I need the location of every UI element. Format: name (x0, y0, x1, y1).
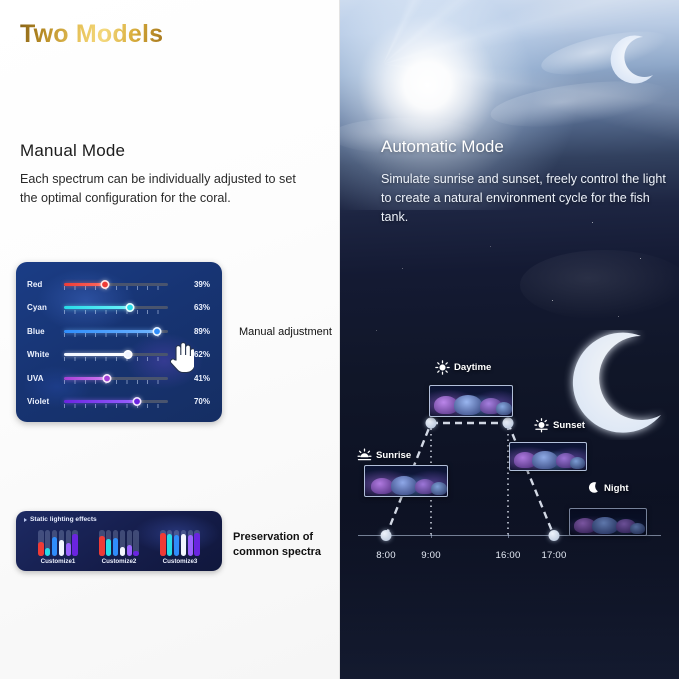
preset-customize3[interactable]: Customize3 (150, 530, 210, 565)
slider-fill (64, 330, 157, 333)
preset-bar (113, 530, 118, 556)
slider-label: Violet (16, 397, 64, 406)
preset-name: Customize1 (28, 558, 88, 565)
crescent-moon-icon (603, 34, 657, 88)
preset-bars (31, 530, 85, 556)
slider-knob[interactable] (152, 327, 161, 336)
slider-knob[interactable] (132, 397, 141, 406)
slider-row-uva[interactable]: UVA41% (16, 366, 222, 390)
slider-control[interactable] (64, 301, 168, 315)
slider-fill (64, 377, 107, 380)
stage-label-text: Sunrise (376, 450, 411, 461)
preset-bar (133, 530, 138, 556)
slider-ticks (64, 286, 168, 290)
slider-control[interactable] (64, 324, 168, 338)
slider-fill (64, 306, 130, 309)
lighting-schedule-chart: 8:009:0016:0017:00 Sunrise (340, 355, 679, 570)
preset-bar-fill (99, 536, 104, 556)
preset-bar (194, 530, 199, 556)
sunset-icon (534, 418, 549, 433)
preset-bar (66, 530, 71, 556)
slider-value: 39% (168, 280, 222, 289)
slider-row-white[interactable]: White62% (16, 343, 222, 367)
slider-value: 89% (168, 327, 222, 336)
preset-bar (127, 530, 132, 556)
slider-row-cyan[interactable]: Cyan63% (16, 296, 222, 320)
preset-bar-fill (52, 537, 57, 556)
preset-bar-fill (59, 540, 64, 556)
slider-label: Cyan (16, 303, 64, 312)
sun-icon (435, 360, 450, 375)
slider-ticks (64, 380, 168, 384)
static-effects-title: Static lighting effects (30, 516, 97, 523)
preset-customize1[interactable]: Customize1 (28, 530, 88, 565)
axis-time-label: 17:00 (541, 550, 566, 561)
preset-bar-fill (188, 535, 193, 556)
aquarium-preview-sunrise (364, 465, 448, 497)
stage-label-text: Sunset (553, 420, 585, 431)
preset-bar-fill (66, 543, 71, 556)
slider-label: Red (16, 280, 64, 289)
preset-bar-fill (167, 534, 172, 556)
automatic-mode-description: Simulate sunrise and sunset, freely cont… (381, 170, 677, 227)
preset-bar (99, 530, 104, 556)
spectrum-slider-card: Red39%Cyan63%Blue89%White62%UVA41%Violet… (16, 262, 222, 422)
slider-row-violet[interactable]: Violet70% (16, 390, 222, 414)
preset-bar-fill (120, 547, 125, 556)
moon-icon (586, 481, 600, 495)
preset-bar-fill (127, 545, 132, 556)
preset-bars (153, 530, 207, 556)
aquarium-preview-night (569, 508, 647, 536)
preset-name: Customize3 (150, 558, 210, 565)
axis-node-night (549, 530, 560, 541)
preset-bar (45, 530, 50, 556)
slider-control[interactable] (64, 395, 168, 409)
preset-bar (106, 530, 111, 556)
stage-label-sunset: Sunset (534, 418, 585, 433)
automatic-mode-panel: Automatic Mode Simulate sunrise and suns… (340, 0, 679, 679)
preset-bar (38, 530, 43, 556)
curve-node-daytime-end (503, 418, 514, 429)
preset-name: Customize2 (89, 558, 149, 565)
preservation-note: Preservation of common spectra (233, 530, 337, 560)
product-infographic: Two Models Manual Mode Each spectrum can… (0, 0, 679, 679)
axis-time-label: 8:00 (376, 550, 395, 561)
stage-label-sunrise: Sunrise (357, 448, 411, 463)
manual-mode-heading: Manual Mode (20, 141, 125, 161)
automatic-mode-heading: Automatic Mode (381, 137, 504, 157)
slider-ticks (64, 310, 168, 314)
preset-bar-fill (113, 538, 118, 556)
static-effects-header[interactable]: Static lighting effects (24, 516, 97, 523)
stage-label-text: Night (604, 483, 629, 494)
preset-bar (160, 530, 165, 556)
preset-bar (174, 530, 179, 556)
slider-row-blue[interactable]: Blue89% (16, 319, 222, 343)
slider-knob[interactable] (100, 280, 109, 289)
slider-knob[interactable] (102, 374, 111, 383)
page-title: Two Models (20, 20, 163, 49)
preset-bar-fill (194, 533, 199, 556)
stage-label-night: Night (586, 481, 629, 495)
preset-bar-fill (72, 534, 77, 556)
preset-customize2[interactable]: Customize2 (89, 530, 149, 565)
chevron-right-icon (24, 518, 27, 522)
preset-bar-fill (174, 535, 179, 556)
axis-node-sunrise (381, 530, 392, 541)
slider-value: 62% (168, 350, 222, 359)
preset-bar-fill (160, 533, 165, 556)
manual-adjustment-note: Manual adjustment (239, 325, 335, 340)
slider-knob[interactable] (125, 303, 134, 312)
preset-bar-fill (45, 548, 50, 556)
manual-mode-panel: Two Models Manual Mode Each spectrum can… (0, 0, 340, 679)
slider-knob[interactable] (124, 350, 133, 359)
slider-control[interactable] (64, 277, 168, 291)
cloud-decoration (520, 250, 679, 320)
slider-fill (64, 353, 128, 356)
preset-bars (92, 530, 146, 556)
preset-bar-fill (106, 539, 111, 556)
manual-mode-description: Each spectrum can be individually adjust… (20, 170, 312, 208)
preset-bar (181, 530, 186, 556)
preset-bar (52, 530, 57, 556)
preset-bar-fill (38, 542, 43, 556)
axis-time-label: 16:00 (495, 550, 520, 561)
preset-bar-fill (181, 534, 186, 556)
aquarium-preview-sunset (509, 442, 587, 471)
slider-label: Blue (16, 327, 64, 336)
slider-fill (64, 283, 105, 286)
slider-ticks (64, 404, 168, 408)
aquarium-preview-daytime (429, 385, 513, 417)
preset-bar (59, 530, 64, 556)
slider-value: 63% (168, 303, 222, 312)
slider-row-red[interactable]: Red39% (16, 272, 222, 296)
static-lighting-effects-card: Static lighting effects Customize1Custom… (16, 511, 222, 571)
sunrise-icon (357, 448, 372, 463)
axis-time-label: 9:00 (421, 550, 440, 561)
stage-label-daytime: Daytime (435, 360, 491, 375)
slider-control[interactable] (64, 348, 168, 362)
stage-label-text: Daytime (454, 362, 491, 373)
preset-bar (120, 530, 125, 556)
preset-bar (188, 530, 193, 556)
slider-control[interactable] (64, 371, 168, 385)
preset-bar (167, 530, 172, 556)
slider-ticks (64, 357, 168, 361)
preset-bar (72, 530, 77, 556)
curve-node-daytime-start (426, 418, 437, 429)
preset-bar-fill (133, 551, 138, 556)
slider-fill (64, 400, 137, 403)
slider-value: 41% (168, 374, 222, 383)
slider-label: White (16, 350, 64, 359)
slider-value: 70% (168, 397, 222, 406)
slider-label: UVA (16, 374, 64, 383)
